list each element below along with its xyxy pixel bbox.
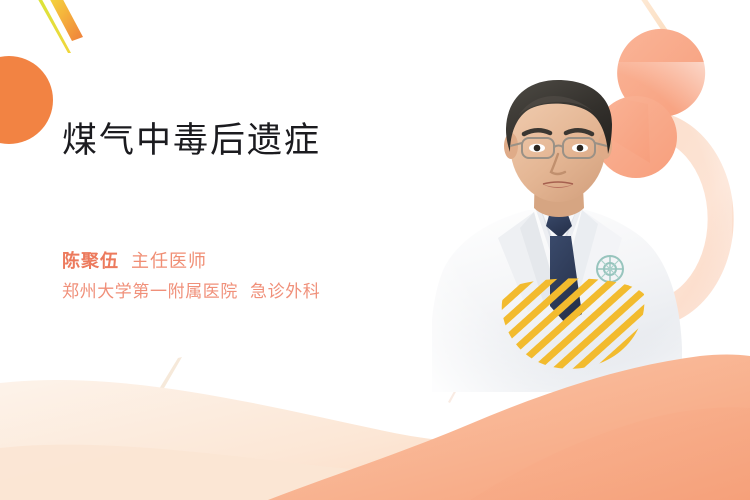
doctor-portrait-svg bbox=[432, 62, 732, 392]
doctor-name-row: 陈聚伍主任医师 bbox=[62, 247, 320, 277]
doctor-name: 陈聚伍 bbox=[62, 251, 119, 272]
doctor-video-cover-card: 煤气中毒后遗症 陈聚伍主任医师 郑州大学第一附属医院急诊外科 bbox=[0, 0, 750, 500]
doctor-affiliation-row: 郑州大学第一附属医院急诊外科 bbox=[62, 277, 320, 307]
page-title: 煤气中毒后遗症 bbox=[62, 118, 321, 164]
circle-orange-left bbox=[0, 56, 53, 144]
doctor-byline: 陈聚伍主任医师 郑州大学第一附属医院急诊外科 bbox=[62, 247, 320, 307]
hospital-name: 郑州大学第一附属医院 bbox=[62, 282, 238, 302]
doctor-portrait bbox=[432, 62, 732, 392]
diagonal-stripe-bottom-faint bbox=[156, 357, 182, 395]
doctor-professional-title: 主任医师 bbox=[131, 251, 207, 272]
department-name: 急诊外科 bbox=[250, 282, 320, 302]
